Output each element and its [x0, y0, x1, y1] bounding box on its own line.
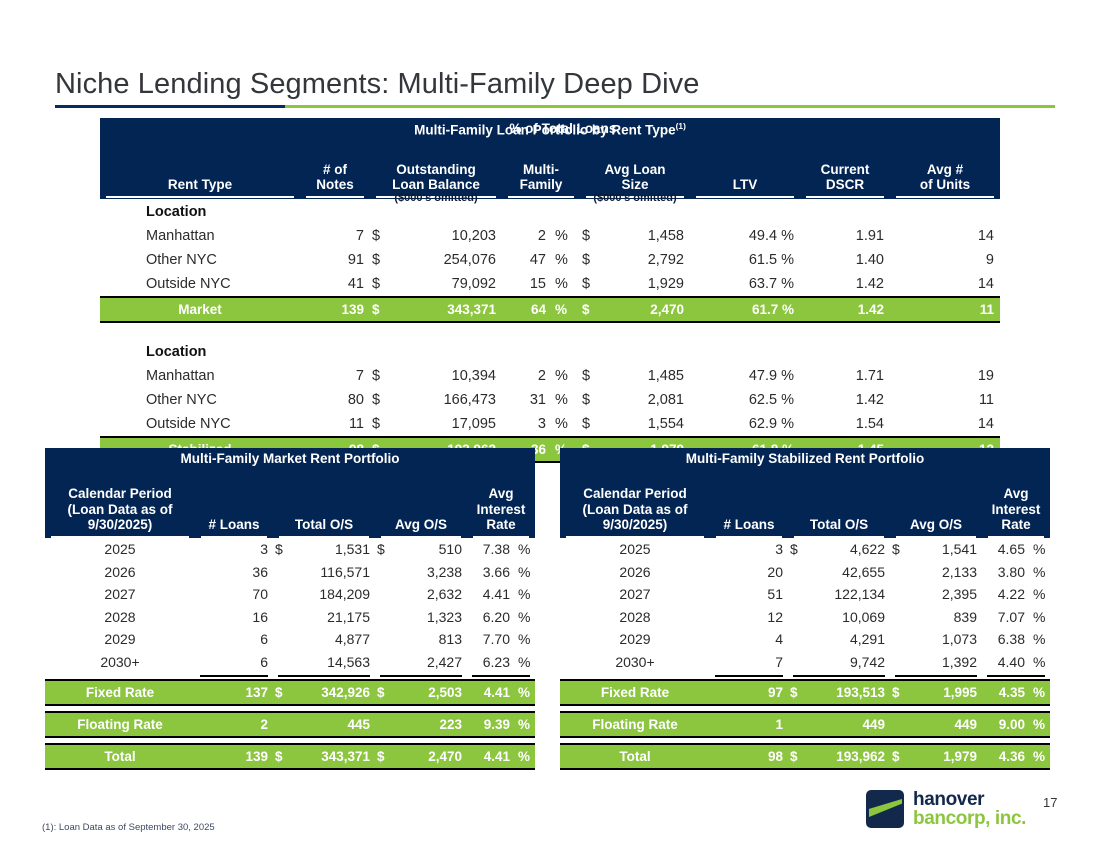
cell-currency-symbol [273, 628, 293, 651]
header-multi-family-pct: Multi- Family [502, 140, 580, 195]
summary-loans: 97 [710, 680, 788, 705]
header-outstanding-loan-balance: Outstanding Loan Balance ($000's omitted… [370, 140, 502, 195]
cell-period: 2029 [560, 628, 710, 651]
cell-currency-symbol: $ [370, 364, 392, 388]
cell-dscr: 1.40 [800, 248, 890, 272]
rule-avg-os [890, 673, 982, 680]
summary-total-os: 193,962 [808, 744, 890, 769]
cell-pct-symbol: % [552, 388, 580, 412]
list-item: 2030+ 7 9,742 1,392 4.40 % [560, 651, 1050, 674]
header-avg-interest-rate: Avg Interest Rate [467, 469, 535, 536]
row-label: Manhattan [100, 364, 300, 388]
cell-total-os: 1,531 [293, 538, 375, 561]
cell-currency-symbol: $ [370, 412, 392, 437]
total-balance: 343,371 [392, 297, 502, 322]
summary-gap [560, 705, 1050, 712]
cell-pct-symbol: % [552, 412, 580, 437]
table-row: Other NYC 91 $ 254,076 47 % $ 2,792 61.5… [100, 248, 1000, 272]
cell-currency-symbol [788, 628, 808, 651]
cell-rate: 3.80 [982, 561, 1030, 584]
summary-row-total: Total 98 $ 193,962 $ 1,979 4.36 % [560, 744, 1050, 769]
logo-line-2: bancorp, inc. [913, 809, 1026, 828]
summary-avg-os: 1,979 [910, 744, 982, 769]
cell-notes: 91 [300, 248, 370, 272]
cell-rate: 4.65 [982, 538, 1030, 561]
cell-currency-symbol-2: $ [375, 538, 395, 561]
main-table-banner-footnote-marker: (1) [676, 121, 686, 131]
page-number: 17 [1043, 795, 1057, 810]
cell-currency-symbol-2 [375, 606, 395, 629]
summary-rate: 9.00 [982, 712, 1030, 737]
summary-total-os: 342,926 [293, 680, 375, 705]
summary-avg-os: 223 [395, 712, 467, 737]
cell-ltv: 49.4 % [690, 224, 800, 248]
stabilized-subtotal-rule-row [560, 673, 1050, 680]
cell-pct-symbol: % [1030, 561, 1050, 584]
cell-pct-symbol: % [1030, 651, 1050, 674]
cell-pct: 2 [502, 224, 552, 248]
cell-ltv: 47.9 % [690, 364, 800, 388]
cell-avg-os: 1,073 [910, 628, 982, 651]
row-label: Outside NYC [100, 412, 300, 437]
cell-loans: 20 [710, 561, 788, 584]
summary-loans: 139 [195, 744, 273, 769]
rule-avg-os [375, 673, 467, 680]
header-total-os: Total O/S [273, 469, 375, 536]
cell-ltv: 62.5 % [690, 388, 800, 412]
cell-currency-symbol-2 [375, 628, 395, 651]
list-item: 2027 70 184,209 2,632 4.41 % [45, 583, 535, 606]
cell-currency-symbol-2 [890, 606, 910, 629]
total-notes: 139 [300, 297, 370, 322]
summary-label: Fixed Rate [45, 680, 195, 705]
cell-period: 2028 [560, 606, 710, 629]
summary-rate: 4.41 [467, 744, 515, 769]
cell-avg-loan-size: 2,081 [604, 388, 690, 412]
total-currency-symbol-2: $ [580, 297, 604, 322]
total-avg-units: 11 [890, 297, 1000, 322]
summary-currency-symbol: $ [788, 744, 808, 769]
cell-period: 2030+ [560, 651, 710, 674]
hanover-swoosh-icon [866, 790, 904, 828]
rule-loans [195, 673, 273, 680]
cell-avg-loan-size: 1,458 [604, 224, 690, 248]
cell-notes: 41 [300, 272, 370, 297]
summary-currency-symbol-2 [890, 712, 910, 737]
header-avg-os: Avg O/S [890, 469, 982, 536]
group-heading-row: Location [100, 339, 1000, 364]
cell-pct-symbol: % [552, 364, 580, 388]
summary-currency-symbol: $ [273, 680, 293, 705]
summary-currency-symbol-2: $ [375, 744, 395, 769]
cell-loans: 3 [195, 538, 273, 561]
cell-currency-symbol: $ [370, 388, 392, 412]
summary-gap [45, 737, 535, 744]
cell-currency-symbol-2: $ [580, 412, 604, 437]
cell-period: 2025 [45, 538, 195, 561]
summary-loans: 98 [710, 744, 788, 769]
summary-pct-symbol: % [515, 744, 535, 769]
cell-dscr: 1.42 [800, 272, 890, 297]
cell-rate: 7.70 [467, 628, 515, 651]
cell-pct-symbol: % [515, 538, 535, 561]
total-row-market: Market 139 $ 343,371 64 % $ 2,470 61.7 %… [100, 297, 1000, 322]
cell-notes: 80 [300, 388, 370, 412]
cell-pct-symbol: % [515, 606, 535, 629]
cell-rate: 4.41 [467, 583, 515, 606]
cell-total-os: 116,571 [293, 561, 375, 584]
summary-currency-symbol-2: $ [890, 680, 910, 705]
header-num-loans: # Loans [710, 469, 788, 536]
cell-currency-symbol-2: $ [580, 272, 604, 297]
cell-avg-units: 14 [890, 272, 1000, 297]
summary-pct-symbol: % [515, 712, 535, 737]
market-rent-portfolio-table: Multi-Family Market Rent Portfolio Calen… [45, 448, 535, 770]
summary-avg-os: 1,995 [910, 680, 982, 705]
main-table-banner: Multi-Family Loan Portfolio by Rent Type… [100, 118, 1000, 140]
summary-pct-symbol: % [1030, 680, 1050, 705]
summary-currency-symbol [788, 712, 808, 737]
summary-total-os: 445 [293, 712, 375, 737]
summary-rate: 9.39 [467, 712, 515, 737]
row-label: Manhattan [100, 224, 300, 248]
header-rent-type: Rent Type [100, 140, 300, 195]
rule-rate [467, 673, 535, 680]
cell-currency-symbol [788, 606, 808, 629]
page-title: Niche Lending Segments: Multi-Family Dee… [55, 68, 699, 101]
cell-balance: 254,076 [392, 248, 502, 272]
cell-rate: 7.07 [982, 606, 1030, 629]
list-item: 2027 51 122,134 2,395 4.22 % [560, 583, 1050, 606]
cell-rate: 6.23 [467, 651, 515, 674]
cell-loans: 70 [195, 583, 273, 606]
row-label: Other NYC [100, 388, 300, 412]
cell-avg-os: 1,541 [910, 538, 982, 561]
summary-pct-symbol: % [1030, 712, 1050, 737]
header-balance-units-note: ($000's omitted) [370, 192, 502, 204]
rule-rate [982, 673, 1050, 680]
cell-balance: 79,092 [392, 272, 502, 297]
header-avg-loan-size: Avg Loan Size ($000's omitted) [580, 140, 690, 195]
total-avg-loan-size: 2,470 [604, 297, 690, 322]
summary-avg-os: 2,503 [395, 680, 467, 705]
cell-period: 2027 [45, 583, 195, 606]
cell-avg-os: 2,632 [395, 583, 467, 606]
cell-total-os: 184,209 [293, 583, 375, 606]
summary-rate: 4.36 [982, 744, 1030, 769]
header-calendar-period: Calendar Period (Loan Data as of 9/30/20… [560, 469, 710, 536]
cell-pct-symbol: % [515, 583, 535, 606]
stabilized-rent-portfolio-table: Multi-Family Stabilized Rent Portfolio C… [560, 448, 1050, 770]
summary-pct-symbol: % [515, 680, 535, 705]
cell-period: 2025 [560, 538, 710, 561]
cell-avg-os: 2,133 [910, 561, 982, 584]
cell-avg-units: 14 [890, 224, 1000, 248]
cell-avg-units: 9 [890, 248, 1000, 272]
main-table-header-row: Rent Type # of Notes Outstanding Loan Ba… [100, 140, 1000, 195]
cell-notes: 11 [300, 412, 370, 437]
cell-pct-symbol: % [552, 272, 580, 297]
cell-dscr: 1.71 [800, 364, 890, 388]
cell-pct-symbol: % [515, 651, 535, 674]
cell-loans: 4 [710, 628, 788, 651]
cell-currency-symbol-2 [890, 651, 910, 674]
cell-currency-symbol-2: $ [580, 388, 604, 412]
cell-ltv: 61.5 % [690, 248, 800, 272]
list-item: 2029 4 4,291 1,073 6.38 % [560, 628, 1050, 651]
cell-balance: 10,203 [392, 224, 502, 248]
cell-currency-symbol-2 [890, 561, 910, 584]
header-avg-units: Avg # of Units [890, 140, 1000, 195]
cell-loans: 51 [710, 583, 788, 606]
cell-currency-symbol-2 [890, 628, 910, 651]
cell-pct-symbol: % [515, 561, 535, 584]
cell-currency-symbol-2 [890, 583, 910, 606]
company-logo: hanover bancorp, inc. [866, 790, 1026, 828]
rule-total-os [273, 673, 375, 680]
cell-period: 2026 [560, 561, 710, 584]
cell-rate: 7.38 [467, 538, 515, 561]
cell-currency-symbol-2 [375, 583, 395, 606]
total-dscr: 1.42 [800, 297, 890, 322]
cell-period: 2028 [45, 606, 195, 629]
summary-total-os: 193,513 [808, 680, 890, 705]
total-label: Market [100, 297, 300, 322]
cell-pct: 3 [502, 412, 552, 437]
cell-total-os: 9,742 [808, 651, 890, 674]
cell-currency-symbol [273, 561, 293, 584]
summary-currency-symbol-2 [375, 712, 395, 737]
cell-balance: 17,095 [392, 412, 502, 437]
cell-total-os: 14,563 [293, 651, 375, 674]
header-avg-interest-rate: Avg Interest Rate [982, 469, 1050, 536]
summary-label: Total [45, 744, 195, 769]
cell-loans: 6 [195, 628, 273, 651]
cell-avg-loan-size: 2,792 [604, 248, 690, 272]
cell-currency-symbol [273, 606, 293, 629]
header-num-loans: # Loans [195, 469, 273, 536]
cell-ltv: 62.9 % [690, 412, 800, 437]
summary-pct-symbol: % [1030, 744, 1050, 769]
list-item: 2026 36 116,571 3,238 3.66 % [45, 561, 535, 584]
cell-dscr: 1.42 [800, 388, 890, 412]
cell-loans: 12 [710, 606, 788, 629]
summary-currency-symbol-2: $ [890, 744, 910, 769]
summary-loans: 2 [195, 712, 273, 737]
header-total-os: Total O/S [788, 469, 890, 536]
cell-avg-loan-size: 1,554 [604, 412, 690, 437]
cell-loans: 3 [710, 538, 788, 561]
cell-currency-symbol: $ [370, 272, 392, 297]
market-subtotal-rule-row [45, 673, 535, 680]
cell-avg-loan-size: 1,485 [604, 364, 690, 388]
cell-currency-symbol: $ [788, 538, 808, 561]
list-item: 2025 3 $ 1,531 $ 510 7.38 % [45, 538, 535, 561]
cell-avg-os: 1,323 [395, 606, 467, 629]
cell-total-os: 42,655 [808, 561, 890, 584]
stabilized-header-row: Calendar Period (Loan Data as of 9/30/20… [560, 469, 1050, 536]
cell-pct: 47 [502, 248, 552, 272]
cell-balance: 10,394 [392, 364, 502, 388]
stabilized-banner-row: Multi-Family Stabilized Rent Portfolio [560, 448, 1050, 469]
row-label: Other NYC [100, 248, 300, 272]
cell-period: 2027 [560, 583, 710, 606]
summary-currency-symbol-2: $ [375, 680, 395, 705]
cell-avg-units: 14 [890, 412, 1000, 437]
total-ltv: 61.7 % [690, 297, 800, 322]
header-avg-loan-units-note: ($000's omitted) [580, 192, 690, 204]
cell-total-os: 122,134 [808, 583, 890, 606]
summary-loans: 1 [710, 712, 788, 737]
cell-currency-symbol [273, 583, 293, 606]
multi-family-rent-type-table: Multi-Family Loan Portfolio by Rent Type… [100, 118, 1000, 463]
total-pct-symbol: % [552, 297, 580, 322]
cell-notes: 7 [300, 224, 370, 248]
cell-currency-symbol-2: $ [890, 538, 910, 561]
cell-dscr: 1.54 [800, 412, 890, 437]
summary-avg-os: 449 [910, 712, 982, 737]
group-label-market-location: Location [100, 199, 1000, 224]
cell-total-os: 4,291 [808, 628, 890, 651]
row-label: Outside NYC [100, 272, 300, 297]
cell-avg-os: 2,427 [395, 651, 467, 674]
logo-wordmark: hanover bancorp, inc. [913, 790, 1026, 828]
logo-line-1: hanover [913, 790, 1026, 809]
summary-currency-symbol [273, 712, 293, 737]
cell-period: 2029 [45, 628, 195, 651]
cell-currency-symbol-2 [375, 651, 395, 674]
header-current-dscr: Current DSCR [800, 140, 890, 195]
cell-rate: 4.22 [982, 583, 1030, 606]
summary-total-os: 449 [808, 712, 890, 737]
cell-pct-symbol: % [1030, 628, 1050, 651]
total-pct: 64 [502, 297, 552, 322]
summary-gap [45, 705, 535, 712]
cell-avg-loan-size: 1,929 [604, 272, 690, 297]
rule-total-os [788, 673, 890, 680]
summary-label: Total [560, 744, 710, 769]
table-row: Other NYC 80 $ 166,473 31 % $ 2,081 62.5… [100, 388, 1000, 412]
header-calendar-period: Calendar Period (Loan Data as of 9/30/20… [45, 469, 195, 536]
cell-rate: 6.38 [982, 628, 1030, 651]
cell-notes: 7 [300, 364, 370, 388]
cell-avg-os: 3,238 [395, 561, 467, 584]
cell-currency-symbol [273, 651, 293, 674]
cell-balance: 166,473 [392, 388, 502, 412]
summary-avg-os: 2,470 [395, 744, 467, 769]
market-banner-label: Multi-Family Market Rent Portfolio [45, 448, 535, 469]
cell-currency-symbol: $ [370, 248, 392, 272]
cell-currency-symbol: $ [273, 538, 293, 561]
cell-currency-symbol-2 [375, 561, 395, 584]
cell-pct-symbol: % [1030, 583, 1050, 606]
cell-currency-symbol [788, 583, 808, 606]
cell-total-os: 21,175 [293, 606, 375, 629]
cell-pct: 15 [502, 272, 552, 297]
summary-rate: 4.35 [982, 680, 1030, 705]
title-underline-rule [55, 105, 1055, 108]
cell-avg-os: 1,392 [910, 651, 982, 674]
summary-row-total: Total 139 $ 343,371 $ 2,470 4.41 % [45, 744, 535, 769]
section-spacer [100, 322, 1000, 339]
summary-loans: 137 [195, 680, 273, 705]
cell-avg-os: 2,395 [910, 583, 982, 606]
cell-pct-symbol: % [515, 628, 535, 651]
cell-loans: 16 [195, 606, 273, 629]
cell-currency-symbol-2: $ [580, 248, 604, 272]
summary-total-os: 343,371 [293, 744, 375, 769]
summary-currency-symbol: $ [788, 680, 808, 705]
cell-period: 2030+ [45, 651, 195, 674]
cell-ltv: 63.7 % [690, 272, 800, 297]
summary-label: Floating Rate [45, 712, 195, 737]
list-item: 2028 16 21,175 1,323 6.20 % [45, 606, 535, 629]
summary-row-fixed-rate: Fixed Rate 97 $ 193,513 $ 1,995 4.35 % [560, 680, 1050, 705]
summary-rate: 4.41 [467, 680, 515, 705]
cell-dscr: 1.91 [800, 224, 890, 248]
group-label-stabilized-location: Location [100, 339, 1000, 364]
header-num-notes: # of Notes [300, 140, 370, 195]
cell-currency-symbol: $ [370, 224, 392, 248]
list-item: 2028 12 10,069 839 7.07 % [560, 606, 1050, 629]
cell-period: 2026 [45, 561, 195, 584]
total-currency-symbol: $ [370, 297, 392, 322]
cell-avg-os: 813 [395, 628, 467, 651]
market-banner-row: Multi-Family Market Rent Portfolio [45, 448, 535, 469]
list-item: 2030+ 6 14,563 2,427 6.23 % [45, 651, 535, 674]
cell-rate: 4.40 [982, 651, 1030, 674]
cell-currency-symbol [788, 651, 808, 674]
group-heading-row: Location [100, 199, 1000, 224]
cell-pct: 31 [502, 388, 552, 412]
list-item: 2026 20 42,655 2,133 3.80 % [560, 561, 1050, 584]
cell-avg-os: 839 [910, 606, 982, 629]
cell-pct-symbol: % [1030, 606, 1050, 629]
cell-avg-os: 510 [395, 538, 467, 561]
table-row: Manhattan 7 $ 10,203 2 % $ 1,458 49.4 % … [100, 224, 1000, 248]
cell-avg-units: 19 [890, 364, 1000, 388]
list-item: 2025 3 $ 4,622 $ 1,541 4.65 % [560, 538, 1050, 561]
table-row: Outside NYC 11 $ 17,095 3 % $ 1,554 62.9… [100, 412, 1000, 437]
cell-total-os: 10,069 [808, 606, 890, 629]
summary-label: Floating Rate [560, 712, 710, 737]
cell-avg-units: 11 [890, 388, 1000, 412]
main-table-banner-overlay-text: % of Total Loans [509, 121, 616, 136]
stabilized-banner-label: Multi-Family Stabilized Rent Portfolio [560, 448, 1050, 469]
list-item: 2029 6 4,877 813 7.70 % [45, 628, 535, 651]
header-avg-os: Avg O/S [375, 469, 467, 536]
summary-currency-symbol: $ [273, 744, 293, 769]
main-table-banner-row: Multi-Family Loan Portfolio by Rent Type… [100, 118, 1000, 140]
cell-total-os: 4,877 [293, 628, 375, 651]
summary-gap [560, 737, 1050, 744]
summary-row-floating-rate: Floating Rate 1 449 449 9.00 % [560, 712, 1050, 737]
market-header-row: Calendar Period (Loan Data as of 9/30/20… [45, 469, 535, 536]
cell-currency-symbol-2: $ [580, 364, 604, 388]
cell-pct-symbol: % [552, 248, 580, 272]
cell-currency-symbol-2: $ [580, 224, 604, 248]
cell-pct-symbol: % [1030, 538, 1050, 561]
cell-loans: 36 [195, 561, 273, 584]
slide-footnote: (1): Loan Data as of September 30, 2025 [42, 822, 215, 833]
table-row: Outside NYC 41 $ 79,092 15 % $ 1,929 63.… [100, 272, 1000, 297]
cell-pct-symbol: % [552, 224, 580, 248]
cell-total-os: 4,622 [808, 538, 890, 561]
cell-rate: 6.20 [467, 606, 515, 629]
summary-row-floating-rate: Floating Rate 2 445 223 9.39 % [45, 712, 535, 737]
summary-row-fixed-rate: Fixed Rate 137 $ 342,926 $ 2,503 4.41 % [45, 680, 535, 705]
header-ltv: LTV [690, 140, 800, 195]
